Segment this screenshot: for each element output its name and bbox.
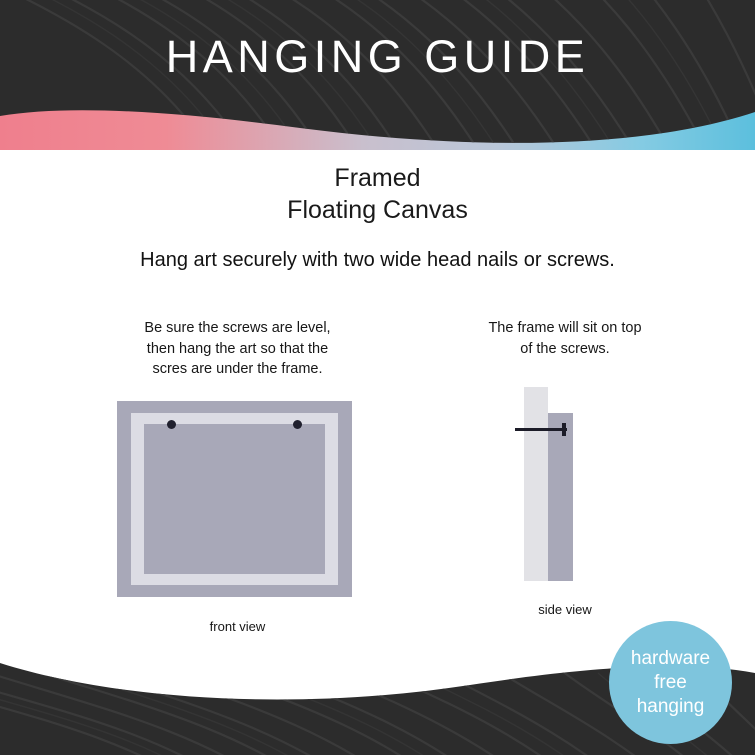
side-view-column: The frame will sit on top of the screws.… (420, 318, 710, 602)
screw-dot-right (293, 420, 302, 429)
hanging-guide-page: HANGING GUIDE Framed Floating Canvas Han… (0, 0, 755, 755)
badge-line2: free (654, 671, 687, 695)
nail-head-icon (562, 423, 566, 436)
side-view-diagram: side view (420, 387, 710, 602)
page-title: HANGING GUIDE (0, 30, 755, 84)
lede-text: Hang art securely with two wide head nai… (0, 247, 755, 273)
front-view-diagram: front view (60, 401, 415, 616)
side-view-caption-line2: of the screws. (520, 341, 609, 357)
frame-mat-band (131, 413, 338, 585)
frame-canvas-area (144, 424, 325, 574)
front-view-caption-line2: then hang the art so that the (147, 341, 328, 357)
nail-shaft-icon (515, 428, 567, 431)
product-title-line2: Floating Canvas (0, 194, 755, 226)
front-view-caption-line1: Be sure the screws are level, (144, 320, 330, 336)
front-view-label: front view (60, 619, 415, 634)
side-view-caption: The frame will sit on top of the screws. (420, 318, 710, 359)
product-title: Framed Floating Canvas (0, 162, 755, 226)
front-view-column: Be sure the screws are level, then hang … (60, 318, 415, 616)
product-title-line1: Framed (334, 164, 420, 192)
frame-outer-edge (117, 401, 352, 597)
hardware-free-hanging-badge: hardware free hanging (609, 621, 732, 744)
main-content: Framed Floating Canvas Hang art securely… (0, 150, 755, 655)
badge-line1: hardware (631, 647, 710, 671)
side-view-label: side view (420, 602, 710, 617)
side-view-caption-line1: The frame will sit on top (488, 320, 641, 336)
front-view-caption-line3: scres are under the frame. (152, 361, 322, 377)
header-band: HANGING GUIDE (0, 0, 755, 150)
badge-line3: hanging (637, 695, 705, 719)
screw-dot-left (167, 420, 176, 429)
wall-profile (524, 387, 548, 581)
frame-profile (548, 413, 573, 581)
front-view-caption: Be sure the screws are level, then hang … (60, 318, 415, 380)
